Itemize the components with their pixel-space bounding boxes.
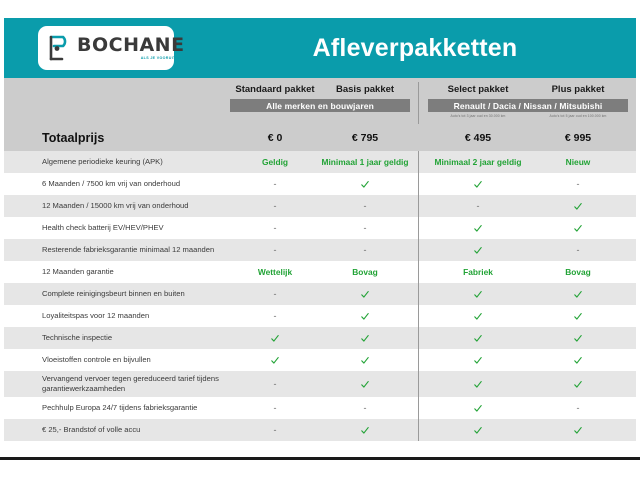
check-icon [428,419,528,441]
bochane-mark-icon [48,34,72,62]
table-row: 12 Maanden garantieWettelijkBovagFabriek… [4,261,636,283]
feature-label: Health check batterij EV/HEV/PHEV [42,223,232,233]
feature-value: Minimaal 1 jaar geldig [320,151,410,173]
check-icon [528,195,628,217]
not-included-dash: - [528,239,628,261]
check-icon [320,419,410,441]
not-included-dash: - [320,397,410,419]
group-divider [418,283,419,305]
table-row: Resterende fabrieksgarantie minimaal 12 … [4,239,636,261]
check-icon [428,283,528,305]
feature-value: Fabriek [428,261,528,283]
package-sub-plus: Auto's tot 5 jaar oud en 100.000 km [528,114,628,118]
table-row: Complete reinigingsbeurt binnen en buite… [4,283,636,305]
table-row: Health check batterij EV/HEV/PHEV-- [4,217,636,239]
check-icon [428,327,528,349]
not-included-dash: - [528,173,628,195]
check-icon [428,397,528,419]
feature-label: Technische inspectie [42,333,232,343]
not-included-dash: - [320,239,410,261]
package-name-basis: Basis pakket [320,84,410,95]
group-divider [418,371,419,397]
not-included-dash: - [230,397,320,419]
feature-value: Nieuw [528,151,628,173]
package-sub-select: Auto's tot 3 jaar oud en 30.000 km [428,114,528,118]
feature-label: Vloeistoffen controle en bijvullen [42,355,232,365]
table-row: Vervangend vervoer tegen gereduceerd tar… [4,371,636,397]
not-included-dash: - [230,371,320,397]
group-divider [418,239,419,261]
page-title: Afleverpakketten [194,18,636,78]
feature-label: 12 Maanden / 15000 km vrij van onderhoud [42,201,232,211]
bochane-logo[interactable]: BOCHANE ALS JE VOORUIT WIL [38,26,174,70]
package-name-plus: Plus pakket [528,84,628,95]
not-included-dash: - [230,217,320,239]
not-included-dash: - [230,419,320,441]
afleverpakketten-page: BOCHANE ALS JE VOORUIT WIL Afleverpakket… [0,0,640,480]
check-icon [428,305,528,327]
check-icon [320,327,410,349]
group-divider [418,217,419,239]
package-name-standaard: Standaard pakket [230,84,320,95]
table-row: Algemene periodieke keuring (APK)GeldigM… [4,151,636,173]
group-divider [418,397,419,419]
check-icon [428,217,528,239]
feature-label: Loyaliteitspas voor 12 maanden [42,311,232,321]
price-plus: € 995 [528,124,628,151]
check-icon [428,173,528,195]
price-select: € 495 [428,124,528,151]
group-divider [418,419,419,441]
check-icon [528,305,628,327]
table-row: Vloeistoffen controle en bijvullen [4,349,636,371]
not-included-dash: - [230,239,320,261]
group-divider [418,327,419,349]
check-icon [528,371,628,397]
check-icon [320,173,410,195]
feature-label: 12 Maanden garantie [42,267,232,277]
content-frame: BOCHANE ALS JE VOORUIT WIL Afleverpakket… [0,8,640,460]
group-pill-renault: Renault / Dacia / Nissan / Mitsubishi [428,99,628,112]
check-icon [528,349,628,371]
feature-value: Wettelijk [230,261,320,283]
check-icon [230,327,320,349]
feature-value: Geldig [230,151,320,173]
check-icon [230,349,320,371]
table-row: € 25,- Brandstof of volle accu- [4,419,636,441]
price-standaard: € 0 [230,124,320,151]
logo-tagline: ALS JE VOORUIT WIL [77,57,185,61]
feature-label: Resterende fabrieksgarantie minimaal 12 … [42,245,232,255]
group-divider [418,349,419,371]
group-divider [418,195,419,217]
table-row: 6 Maanden / 7500 km vrij van onderhoud-- [4,173,636,195]
package-name-select: Select pakket [428,84,528,95]
check-icon [320,305,410,327]
logo-wordmark: BOCHANE [77,36,185,55]
feature-label: Algemene periodieke keuring (APK) [42,157,232,167]
table-row: Technische inspectie [4,327,636,349]
feature-value: Bovag [320,261,410,283]
feature-label: Pechhulp Europa 24/7 tijdens fabrieksgar… [42,403,232,413]
check-icon [320,283,410,305]
check-icon [528,283,628,305]
feature-label: € 25,- Brandstof of volle accu [42,425,232,435]
group-divider [418,173,419,195]
table-row: Loyaliteitspas voor 12 maanden- [4,305,636,327]
group-divider [418,261,419,283]
table-row: Pechhulp Europa 24/7 tijdens fabrieksgar… [4,397,636,419]
footer-spacer [4,443,636,457]
feature-label: Complete reinigingsbeurt binnen en buite… [42,289,232,299]
check-icon [428,239,528,261]
not-included-dash: - [230,283,320,305]
feature-label: 6 Maanden / 7500 km vrij van onderhoud [42,179,232,189]
not-included-dash: - [320,195,410,217]
feature-value: Minimaal 2 jaar geldig [428,151,528,173]
feature-value: Bovag [528,261,628,283]
price-basis: € 795 [320,124,410,151]
check-icon [428,371,528,397]
not-included-dash: - [320,217,410,239]
group-divider [418,305,419,327]
not-included-dash: - [528,397,628,419]
check-icon [428,349,528,371]
check-icon [320,371,410,397]
check-icon [528,419,628,441]
group-pill-all-brands: Alle merken en bouwjaren [230,99,410,112]
not-included-dash: - [230,305,320,327]
feature-table: Algemene periodieke keuring (APK)GeldigM… [4,151,636,441]
feature-label: Vervangend vervoer tegen gereduceerd tar… [42,374,232,393]
total-price-row: Totaalprijs € 0 € 795 € 495 € 995 [4,124,636,151]
not-included-dash: - [230,195,320,217]
check-icon [528,217,628,239]
check-icon [320,349,410,371]
page-header: BOCHANE ALS JE VOORUIT WIL Afleverpakket… [4,18,636,78]
table-row: 12 Maanden / 15000 km vrij van onderhoud… [4,195,636,217]
not-included-dash: - [428,195,528,217]
total-price-label: Totaalprijs [42,131,104,145]
group-divider [418,151,419,173]
not-included-dash: - [230,173,320,195]
check-icon [528,327,628,349]
